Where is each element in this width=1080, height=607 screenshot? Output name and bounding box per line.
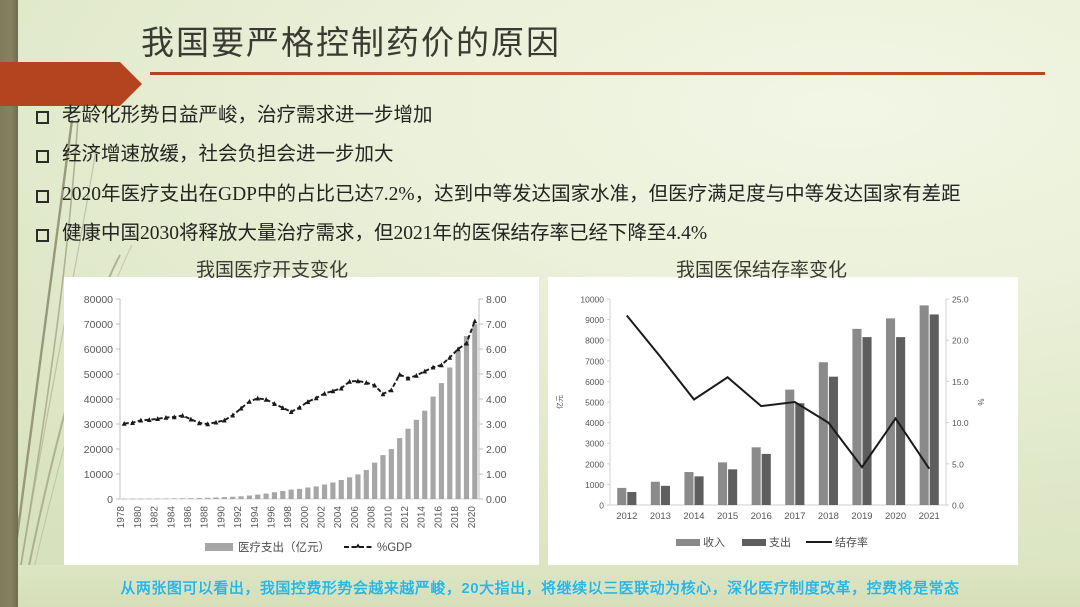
y-tick-label: 5000 bbox=[585, 398, 604, 408]
x-tick-label: 2000 bbox=[300, 506, 311, 529]
chart-medical-spending: 0100002000030000400005000060000700008000… bbox=[64, 277, 539, 565]
bar bbox=[372, 463, 377, 499]
x-tick-label: 1992 bbox=[233, 506, 244, 529]
x-tick-label: 2017 bbox=[784, 511, 805, 522]
square-bullet-icon bbox=[36, 150, 49, 163]
legend-swatch-bar bbox=[205, 543, 233, 551]
bar bbox=[155, 499, 160, 500]
legend-label-bar: 医疗支出（亿元） bbox=[238, 540, 330, 554]
bar bbox=[247, 496, 252, 499]
chart-panel-insurance-balance: 0100020003000400050006000700080009000100… bbox=[548, 277, 1018, 565]
y-tick-label: 1000 bbox=[585, 480, 604, 490]
y-tick-label: 10000 bbox=[580, 295, 604, 305]
bar bbox=[380, 455, 385, 499]
bar-income bbox=[651, 482, 660, 505]
y-tick-label: 70000 bbox=[84, 319, 113, 331]
legend-swatch-income bbox=[676, 539, 700, 546]
y-tick-label: 10000 bbox=[84, 469, 113, 481]
legend-swatch-expense bbox=[742, 539, 766, 546]
y2-tick-label: 0.00 bbox=[486, 494, 507, 506]
chart-title-insurance-balance: 我国医保结存率变化 bbox=[676, 255, 847, 282]
bar bbox=[289, 490, 294, 499]
y2-tick-label: 5.0 bbox=[952, 459, 964, 469]
bar-income bbox=[752, 447, 761, 505]
bar bbox=[414, 420, 419, 499]
bar bbox=[397, 438, 402, 499]
x-tick-label: 2013 bbox=[650, 511, 671, 522]
bar bbox=[314, 486, 319, 499]
bar-income bbox=[684, 472, 693, 505]
y-tick-label: 6000 bbox=[585, 377, 604, 387]
x-tick-label: 2018 bbox=[818, 511, 839, 522]
bar bbox=[472, 324, 477, 499]
bar bbox=[322, 485, 327, 499]
bar-expense bbox=[863, 337, 872, 505]
x-tick-label: 2008 bbox=[367, 506, 378, 529]
y-tick-label: 30000 bbox=[84, 419, 113, 431]
bar bbox=[364, 470, 369, 499]
x-tick-label: 1984 bbox=[166, 506, 177, 529]
line-marker bbox=[322, 391, 327, 396]
square-bullet-icon bbox=[36, 111, 49, 124]
line-marker bbox=[347, 379, 352, 384]
x-tick-label: 2002 bbox=[317, 506, 328, 529]
bullet-list: 老龄化形势日益严峻，治疗需求进一步增加 经济增速放缓，社会负担会进一步加大 20… bbox=[36, 104, 1046, 262]
x-tick-label: 2014 bbox=[417, 506, 428, 529]
chart-insurance-balance: 0100020003000400050006000700080009000100… bbox=[548, 277, 1018, 565]
bar-expense bbox=[695, 476, 704, 505]
bar bbox=[213, 497, 218, 499]
x-tick-label: 2004 bbox=[333, 506, 344, 529]
x-tick-label: 1994 bbox=[250, 506, 261, 529]
x-tick-label: 1998 bbox=[283, 506, 294, 529]
x-tick-label: 2012 bbox=[616, 511, 637, 522]
bar bbox=[230, 497, 235, 499]
y-tick-label: 0 bbox=[107, 494, 113, 506]
bar bbox=[180, 498, 185, 499]
x-tick-label: 1996 bbox=[267, 506, 278, 529]
bar-expense bbox=[930, 314, 939, 505]
y2-axis-title: % bbox=[977, 398, 986, 405]
line-series-balance-rate bbox=[627, 316, 929, 469]
bar bbox=[147, 499, 152, 500]
list-item: 2020年医疗支出在GDP中的占比已达7.2%，达到中等发达国家水准，但医疗满足… bbox=[36, 183, 1046, 207]
square-bullet-icon bbox=[36, 229, 49, 242]
y2-tick-label: 8.00 bbox=[486, 294, 507, 306]
bar bbox=[405, 429, 410, 499]
square-bullet-icon bbox=[36, 190, 49, 203]
title-arrow-banner bbox=[0, 62, 142, 106]
title-underline bbox=[150, 72, 1045, 75]
y2-tick-label: 5.00 bbox=[486, 369, 507, 381]
bar bbox=[264, 494, 269, 499]
bar bbox=[238, 496, 243, 499]
list-item: 健康中国2030将释放大量治疗需求，但2021年的医保结存率已经下降至4.4% bbox=[36, 222, 1046, 246]
legend-line-marker bbox=[356, 544, 361, 548]
list-item-label: 健康中国2030将释放大量治疗需求，但2021年的医保结存率已经下降至4.4% bbox=[62, 222, 707, 246]
bar bbox=[430, 397, 435, 499]
legend-label-income: 收入 bbox=[703, 535, 725, 549]
bar-income bbox=[819, 362, 828, 505]
list-item-label: 2020年医疗支出在GDP中的占比已达7.2%，达到中等发达国家水准，但医疗满足… bbox=[62, 183, 961, 207]
y2-tick-label: 6.00 bbox=[486, 344, 507, 356]
y-tick-label: 8000 bbox=[585, 336, 604, 346]
chart-panel-medical-spending: 0100002000030000400005000060000700008000… bbox=[64, 277, 539, 565]
y2-tick-label: 4.00 bbox=[486, 394, 507, 406]
footer-caption: 从两张图可以看出，我国控费形势会越来越严峻，20大指出，将继续以三医联动为核心，… bbox=[0, 577, 1080, 598]
x-tick-label: 1988 bbox=[200, 506, 211, 529]
bar bbox=[339, 480, 344, 499]
y2-tick-label: 20.0 bbox=[952, 336, 969, 346]
y2-tick-label: 25.0 bbox=[952, 295, 969, 305]
bar-expense bbox=[795, 403, 804, 505]
bar-income bbox=[617, 488, 626, 505]
bar bbox=[280, 491, 285, 499]
y-axis-title: 亿元 bbox=[555, 395, 564, 409]
x-tick-label: 1990 bbox=[216, 506, 227, 529]
bar-expense bbox=[627, 492, 636, 505]
bar bbox=[422, 411, 427, 499]
bar-expense bbox=[829, 377, 838, 505]
x-tick-label: 2020 bbox=[467, 506, 478, 529]
y-tick-label: 2000 bbox=[585, 459, 604, 469]
bar-income bbox=[886, 318, 895, 505]
bar-expense bbox=[728, 469, 737, 505]
bar-income bbox=[785, 390, 794, 505]
y2-tick-label: 1.00 bbox=[486, 469, 507, 481]
bar bbox=[297, 489, 302, 499]
x-tick-label: 2016 bbox=[433, 506, 444, 529]
x-tick-label: 2020 bbox=[885, 511, 906, 522]
x-tick-label: 2021 bbox=[919, 511, 940, 522]
bar bbox=[305, 488, 310, 499]
x-tick-label: 2010 bbox=[383, 506, 394, 529]
line-marker bbox=[472, 318, 477, 323]
y2-tick-label: 10.0 bbox=[952, 418, 969, 428]
chart-title-medical-spending: 我国医疗开支变化 bbox=[196, 255, 348, 282]
y2-tick-label: 0.0 bbox=[952, 501, 964, 511]
bar bbox=[222, 497, 227, 499]
y-tick-label: 20000 bbox=[84, 444, 113, 456]
x-tick-label: 2006 bbox=[350, 506, 361, 529]
bar bbox=[122, 499, 127, 500]
x-tick-label: 2018 bbox=[450, 506, 461, 529]
list-item: 老龄化形势日益严峻，治疗需求进一步增加 bbox=[36, 104, 1046, 128]
y2-tick-label: 7.00 bbox=[486, 319, 507, 331]
bar bbox=[355, 474, 360, 499]
bar bbox=[447, 368, 452, 499]
legend-label-line: %GDP bbox=[377, 542, 412, 554]
x-tick-label: 2014 bbox=[683, 511, 704, 522]
bar bbox=[138, 499, 143, 500]
y-tick-label: 80000 bbox=[84, 294, 113, 306]
x-tick-label: 2019 bbox=[851, 511, 872, 522]
y-tick-label: 50000 bbox=[84, 369, 113, 381]
list-item-label: 老龄化形势日益严峻，治疗需求进一步增加 bbox=[62, 104, 433, 128]
y-tick-label: 9000 bbox=[585, 315, 604, 325]
bar bbox=[130, 499, 135, 500]
bar bbox=[197, 498, 202, 499]
page-title: 我国要严格控制药价的原因 bbox=[141, 16, 561, 64]
y2-tick-label: 15.0 bbox=[952, 377, 969, 387]
x-tick-label: 2012 bbox=[400, 506, 411, 529]
bar-expense bbox=[762, 454, 771, 505]
legend-label-rate: 结存率 bbox=[835, 535, 868, 549]
x-tick-label: 2015 bbox=[717, 511, 738, 522]
y-tick-label: 3000 bbox=[585, 439, 604, 449]
bar-income bbox=[718, 462, 727, 505]
bar bbox=[389, 449, 394, 499]
x-tick-label: 1986 bbox=[183, 506, 194, 529]
y2-tick-label: 3.00 bbox=[486, 419, 507, 431]
bar bbox=[439, 383, 444, 499]
bar-income bbox=[852, 329, 861, 505]
bar-expense bbox=[661, 486, 670, 505]
x-tick-label: 1980 bbox=[133, 506, 144, 529]
x-tick-label: 2016 bbox=[751, 511, 772, 522]
y-tick-label: 4000 bbox=[585, 418, 604, 428]
bar bbox=[163, 498, 168, 499]
x-tick-label: 1978 bbox=[116, 506, 127, 529]
slide-root: 我国要严格控制药价的原因 老龄化形势日益严峻，治疗需求进一步增加 经济增速放缓，… bbox=[0, 0, 1080, 607]
legend-label-expense: 支出 bbox=[769, 535, 791, 549]
line-marker bbox=[247, 399, 252, 404]
bar bbox=[205, 498, 210, 499]
bar bbox=[347, 477, 352, 499]
bar bbox=[456, 351, 461, 499]
bar bbox=[255, 495, 260, 499]
bar bbox=[272, 492, 277, 499]
bar bbox=[172, 498, 177, 499]
y-tick-label: 40000 bbox=[84, 394, 113, 406]
bar bbox=[330, 483, 335, 499]
y-tick-label: 0 bbox=[599, 501, 604, 511]
y-tick-label: 60000 bbox=[84, 344, 113, 356]
bar bbox=[464, 336, 469, 499]
y2-tick-label: 2.00 bbox=[486, 444, 507, 456]
x-tick-label: 1982 bbox=[150, 506, 161, 529]
bar-income bbox=[920, 305, 929, 505]
list-item-label: 经济增速放缓，社会负担会进一步加大 bbox=[62, 143, 394, 167]
bar bbox=[188, 498, 193, 499]
y-tick-label: 7000 bbox=[585, 356, 604, 366]
list-item: 经济增速放缓，社会负担会进一步加大 bbox=[36, 143, 1046, 167]
